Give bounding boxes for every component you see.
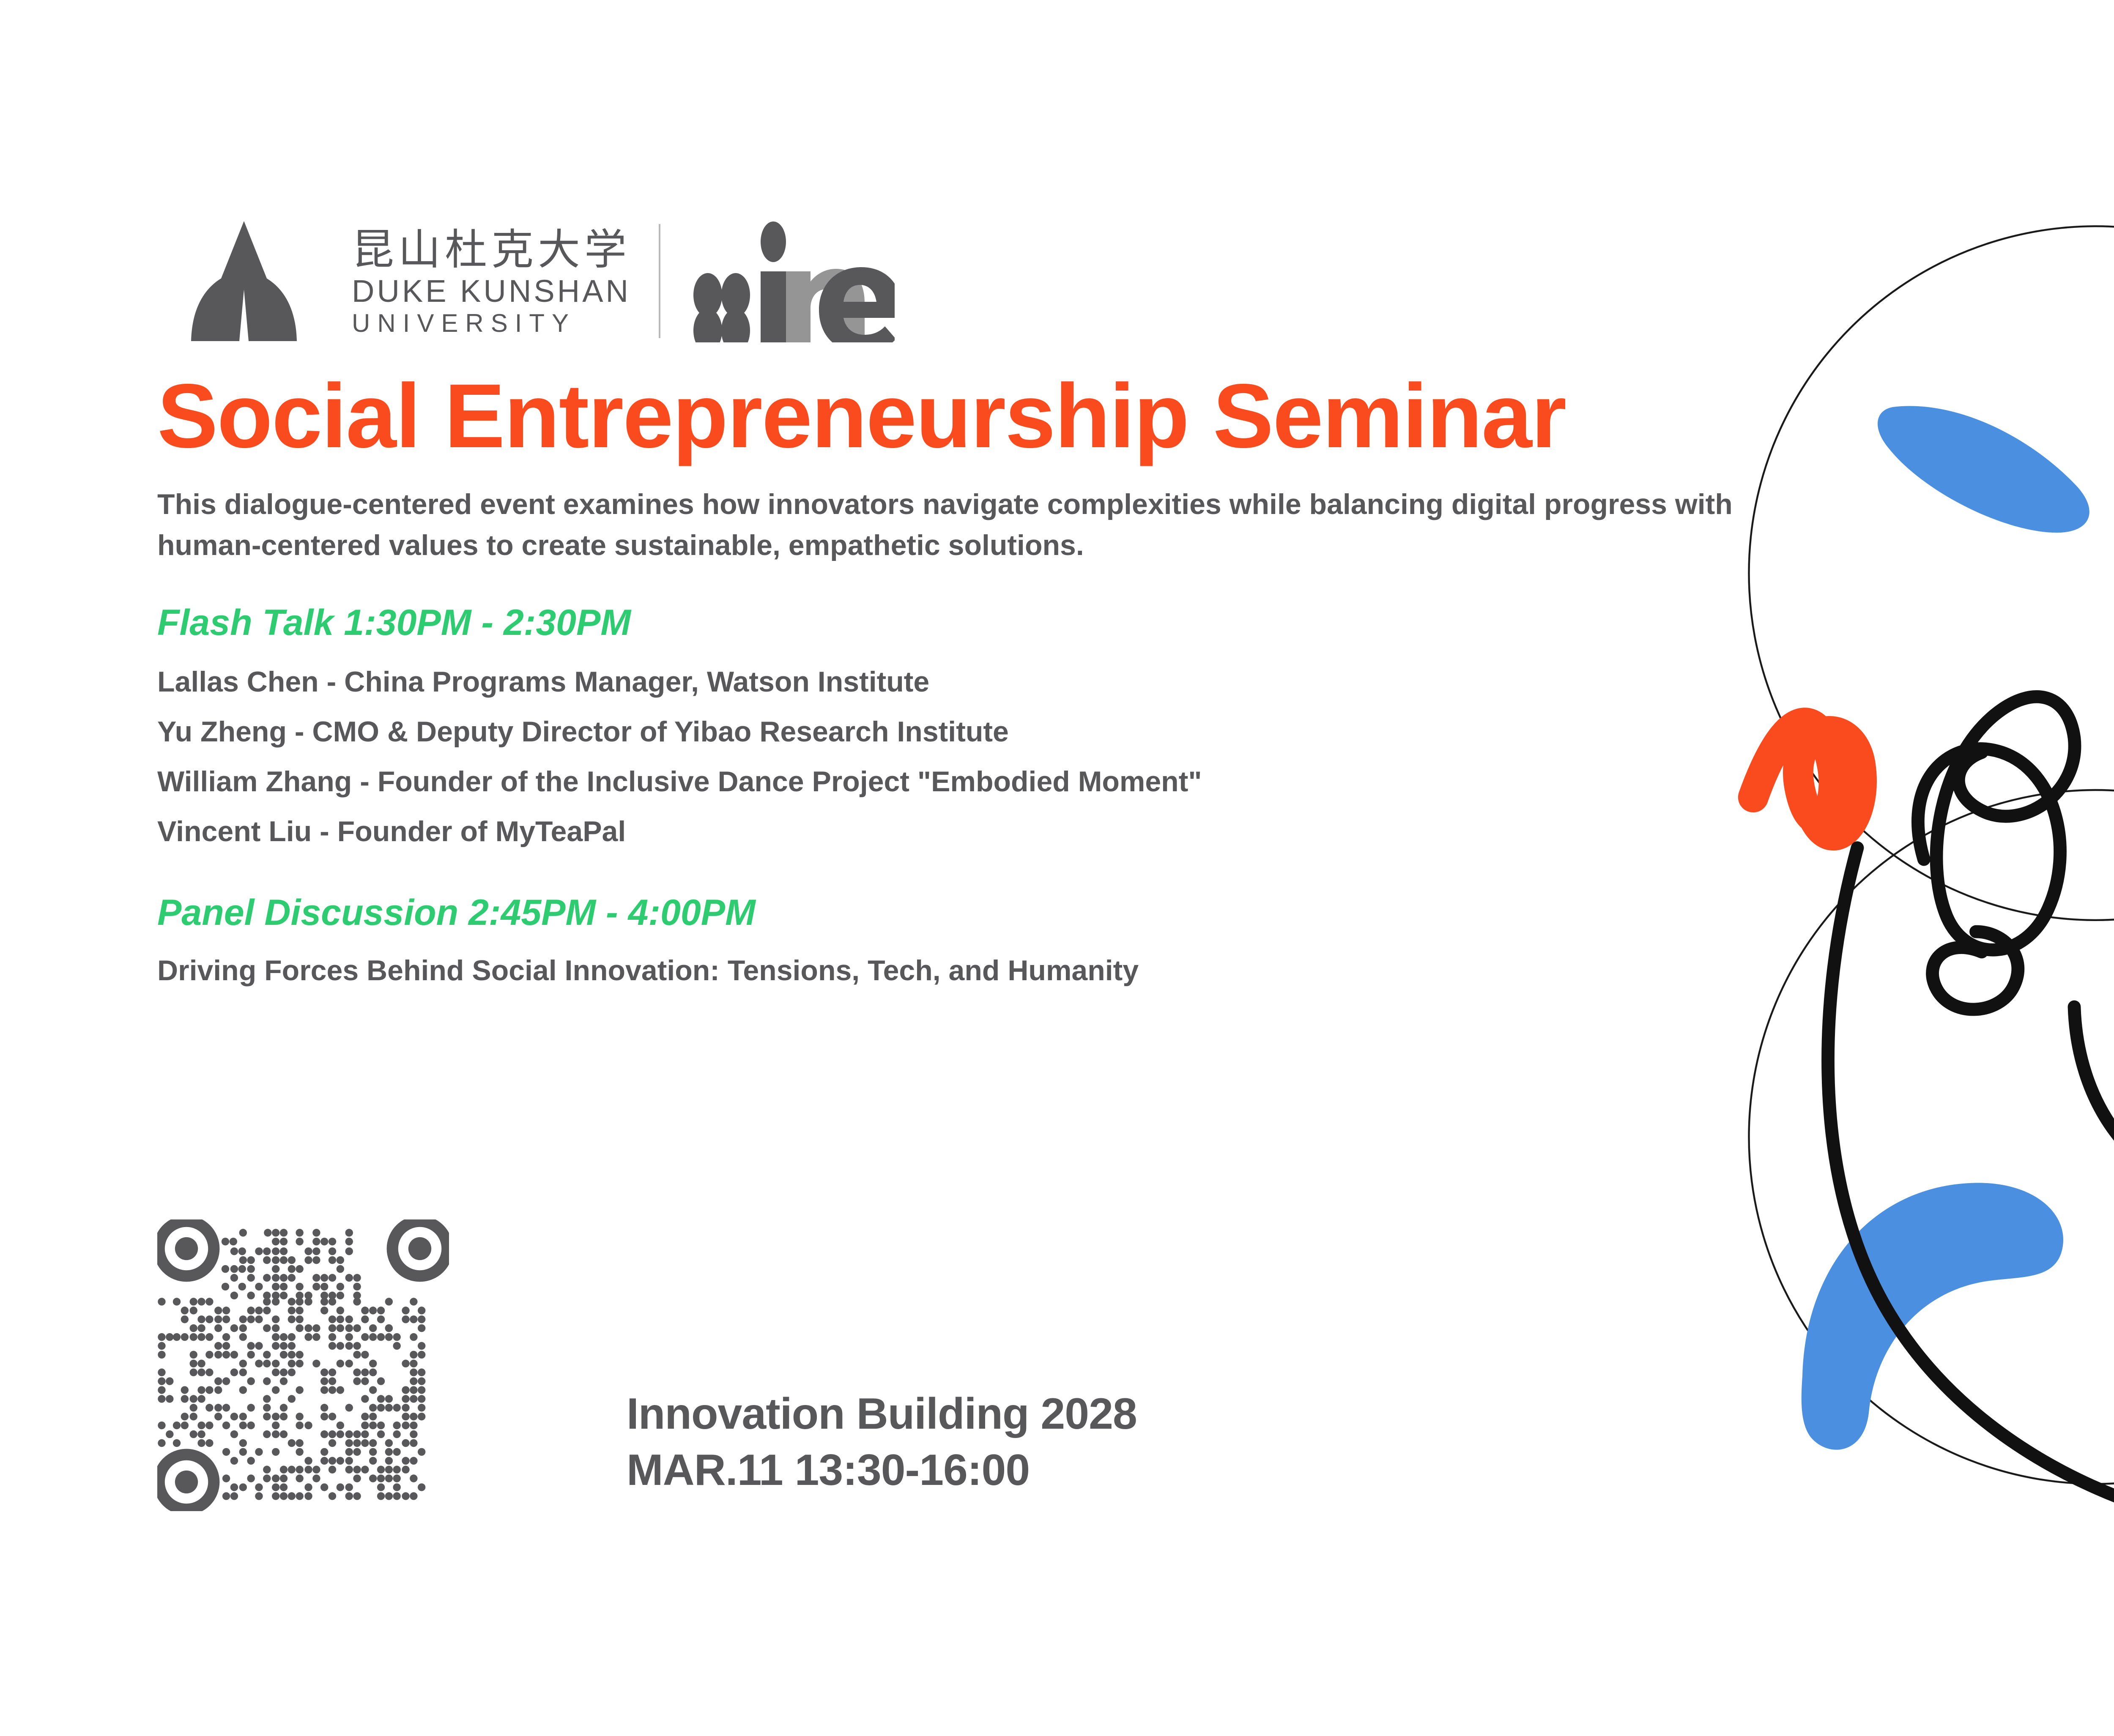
svg-text:昆山杜克大学: 昆山杜克大学 [352, 225, 631, 274]
orange-squiggle [1753, 723, 1862, 835]
dku-logo: 昆山杜克大学 DUKE KUNSHAN UNIVERSITY [157, 218, 631, 344]
logo-divider [659, 224, 660, 338]
poster-canvas: 昆山杜克大学 DUKE KUNSHAN UNIVERSITY [0, 0, 2114, 1736]
ine-logo [692, 220, 895, 342]
dku-chinese-name: 昆山杜克大学 [352, 224, 631, 274]
qr-code[interactable] [157, 1219, 449, 1511]
dku-english-line1: DUKE KUNSHAN [352, 274, 631, 308]
speaker-item: Vincent Liu - Founder of MyTeaPal [157, 815, 1806, 848]
qr-venue-block: Innovation Building 2028 MAR.11 13:30-16… [157, 1219, 1137, 1511]
illustration-svg [1640, 139, 2114, 1585]
qr-finder-top-right [392, 1221, 447, 1276]
qr-finder-top-left [159, 1221, 214, 1276]
venue-name: Innovation Building 2028 [627, 1386, 1137, 1442]
speaker-item: William Zhang - Founder of the Inclusive… [157, 765, 1806, 798]
qr-finder-bottom-left [159, 1454, 214, 1509]
dku-english-line2: UNIVERSITY [352, 308, 631, 339]
page-title: Social Entrepreneurship Seminar [157, 370, 1806, 461]
section-heading-flash-talk: Flash Talk 1:30PM - 2:30PM [157, 603, 1806, 643]
blue-brush-stroke [1878, 406, 2089, 533]
ine-wordmark [761, 221, 895, 342]
speaker-item: Lallas Chen - China Programs Manager, Wa… [157, 665, 1806, 699]
ine-four-dots-mark [693, 273, 750, 342]
logo-row: 昆山杜克大学 DUKE KUNSHAN UNIVERSITY [157, 211, 1806, 351]
panel-topic: Driving Forces Behind Social Innovation:… [157, 954, 1806, 988]
blue-brush-stroke [1802, 1183, 2063, 1449]
content-column: 昆山杜克大学 DUKE KUNSHAN UNIVERSITY [157, 211, 1806, 988]
dku-triangle-mark [157, 218, 331, 344]
venue-datetime: MAR.11 13:30-16:00 [627, 1442, 1137, 1498]
dku-wordmark: 昆山杜克大学 DUKE KUNSHAN UNIVERSITY [352, 220, 631, 342]
lightbulb-and-hand-illustration [1640, 139, 2114, 1585]
speaker-item: Yu Zheng - CMO & Deputy Director of Yiba… [157, 715, 1806, 749]
section-heading-panel-discussion: Panel Discussion 2:45PM - 4:00PM [157, 893, 1806, 933]
event-description: This dialogue-centered event examines ho… [157, 484, 1806, 566]
venue-info: Innovation Building 2028 MAR.11 13:30-16… [627, 1386, 1137, 1511]
hand-drawn-loops [1828, 697, 2114, 1545]
